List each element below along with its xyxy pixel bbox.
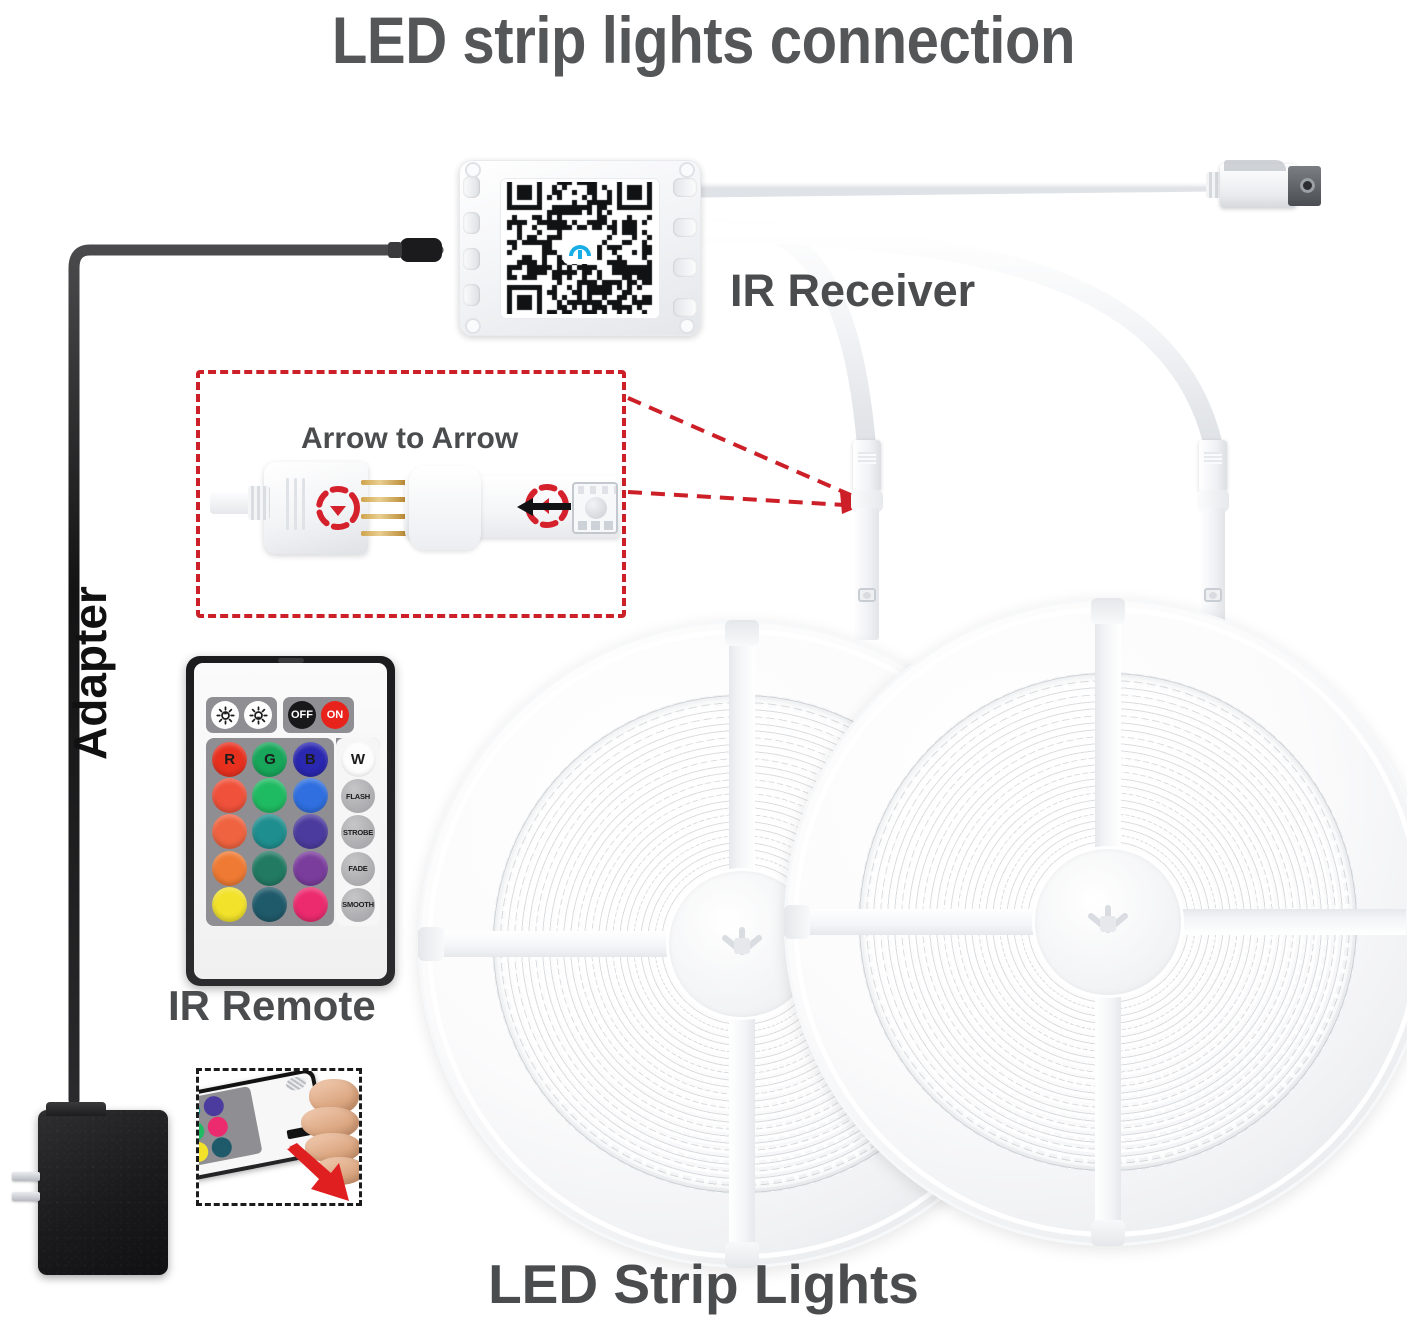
white-color-button[interactable]: W [341, 742, 376, 777]
power-adapter[interactable] [38, 1110, 168, 1275]
mount-loop-icon [465, 318, 481, 334]
mini-color-dot [210, 1136, 233, 1159]
arrow-to-arrow-title: Arrow to Arrow [301, 422, 518, 456]
dc-plug-barrel [400, 238, 442, 262]
connector-collar [248, 486, 270, 520]
left-arrow-icon [515, 496, 571, 518]
controller-port [673, 298, 697, 317]
color-button-r5c1[interactable] [212, 887, 247, 922]
jack-bevel [1224, 160, 1286, 171]
color-button-r2c2[interactable] [252, 778, 287, 813]
color-button-r3c3[interactable] [293, 814, 328, 849]
circular-arrow-icon [312, 482, 364, 534]
mini-color-dot [234, 1131, 257, 1154]
wifi-controller-box[interactable] [459, 160, 701, 336]
female-connector [264, 462, 368, 554]
mini-color-dot [196, 1140, 210, 1163]
plug-head [1199, 440, 1227, 492]
fade-mode-button[interactable]: FADE [341, 852, 375, 886]
controller-rib [463, 176, 480, 198]
controller-rib [463, 212, 480, 234]
mount-loop-icon [679, 318, 695, 334]
strip-segment [855, 508, 879, 640]
led-chip-icon [572, 482, 618, 534]
led-strip-lights-label: LED Strip Lights [0, 1252, 1407, 1316]
mini-color-dot [226, 1090, 249, 1113]
remote-color-grid: RGB [206, 738, 334, 926]
controller-rib [463, 284, 480, 306]
color-button-r5c2[interactable] [252, 887, 287, 922]
color-button-g[interactable]: G [252, 742, 287, 777]
brightness-down-icon [249, 706, 268, 725]
mount-loop-icon [679, 162, 695, 178]
ir-remote-label: IR Remote [168, 982, 376, 1030]
diagram-canvas: LED strip lights connection [0, 0, 1407, 1330]
power-group: OFF ON [283, 697, 354, 733]
color-button-r4c3[interactable] [293, 851, 328, 886]
plug-prong [12, 1192, 40, 1201]
mini-color-dot [196, 1120, 206, 1143]
down-right-arrow-icon [285, 1143, 359, 1205]
output-cable-right [706, 232, 1212, 440]
controller-port [673, 258, 697, 277]
brightness-down-button[interactable] [244, 701, 272, 729]
adapter-cable-boot [46, 1102, 106, 1116]
mini-color-dot [202, 1094, 225, 1117]
arrow-to-arrow-inset: Arrow to Arrow [196, 370, 626, 618]
adapter-label: Adapter [63, 586, 117, 760]
jack-hole-icon [1300, 178, 1315, 193]
dc-barrel-jack[interactable] [1206, 160, 1324, 212]
color-button-r5c3[interactable] [293, 887, 328, 922]
controller-rib [463, 248, 480, 270]
strip-overmold [409, 466, 481, 550]
color-button-r[interactable]: R [212, 742, 247, 777]
color-button-r2c3[interactable] [293, 778, 328, 813]
battery-tab-pull-inset [196, 1068, 362, 1206]
controller-to-dcjack-cable [703, 182, 1212, 188]
ir-receiver-label: IR Receiver [730, 265, 975, 317]
controller-port [673, 178, 697, 197]
plug-head [853, 440, 881, 492]
controller-port [673, 218, 697, 237]
color-button-r4c2[interactable] [252, 851, 287, 886]
mini-color-dot [196, 1099, 202, 1122]
hub-star-icon [715, 920, 769, 968]
brightness-up-button[interactable] [211, 701, 239, 729]
smooth-mode-button[interactable]: SMOOTH [341, 888, 375, 922]
power-on-button[interactable]: ON [321, 701, 349, 729]
brightness-group [206, 697, 277, 733]
strobe-mode-button[interactable]: STROBE [341, 815, 375, 849]
color-button-r4c1[interactable] [212, 851, 247, 886]
led-strip-reel-right[interactable] [784, 598, 1407, 1246]
mount-loop-icon [465, 162, 481, 178]
callout-lines [628, 398, 862, 506]
led-chip-icon [1204, 588, 1222, 602]
color-button-r3c2[interactable] [252, 814, 287, 849]
flash-mode-button[interactable]: FLASH [341, 779, 375, 813]
connector-pins [361, 480, 409, 538]
output-cable-left [704, 215, 866, 440]
plug-prong [12, 1172, 40, 1181]
mini-color-dot [230, 1110, 253, 1133]
hub-star-icon [1081, 898, 1135, 946]
cloud-app-logo-icon [563, 236, 597, 264]
color-button-r2c1[interactable] [212, 778, 247, 813]
power-off-button[interactable]: OFF [288, 701, 316, 729]
brightness-up-icon [216, 706, 235, 725]
remote-mode-column: W FLASH STROBE FADE SMOOTH [336, 738, 380, 926]
remote-top-row: OFF ON [206, 697, 378, 733]
color-button-b[interactable]: B [293, 742, 328, 777]
led-chip-icon [858, 588, 876, 602]
mini-color-dot [206, 1115, 229, 1138]
ir-emitter-window [278, 658, 304, 663]
strip-connector-plug-left[interactable] [845, 440, 889, 640]
ir-remote-control[interactable]: OFF ON RGB W FLASH STROBE FADE SMOOTH [186, 656, 395, 986]
color-button-r3c1[interactable] [212, 814, 247, 849]
strip-male-end [405, 466, 620, 552]
adapter-texture [38, 1110, 168, 1275]
